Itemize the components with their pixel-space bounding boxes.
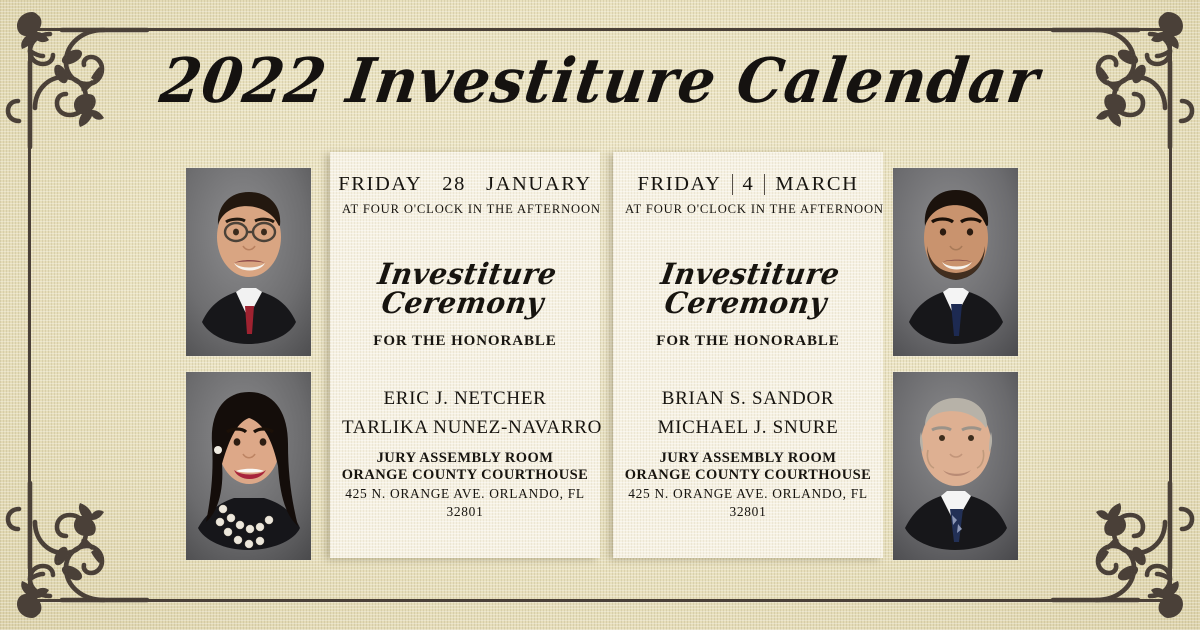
card-day: 4 (743, 174, 755, 196)
list-item: BRIAN S. SANDOR (625, 384, 871, 413)
card-ceremony-title: Investiture Ceremony (620, 259, 875, 318)
corner-ornament-bottom-right (1046, 476, 1196, 626)
corner-ornament-bottom-left (4, 476, 154, 626)
list-item: MICHAEL J. SNURE (625, 413, 871, 442)
card-date-line: FRIDAY 4 MARCH (625, 174, 871, 196)
invitation-card-march[interactable]: FRIDAY 4 MARCH AT FOUR O'CLOCK IN THE AF… (613, 152, 883, 558)
card-weekday: FRIDAY (338, 174, 422, 196)
venue-room: JURY ASSEMBLY ROOM (613, 450, 883, 467)
card-honorific: FOR THE HONORABLE (625, 333, 871, 350)
date-separator-icon (764, 174, 765, 195)
card-month: JANUARY (486, 174, 592, 196)
card-time: AT FOUR O'CLOCK IN THE AFTERNOON (625, 202, 871, 217)
portrait-photo-top-right (893, 168, 1018, 356)
page-title: 2022 Investiture Calendar (0, 50, 1200, 111)
frame-border-top (28, 28, 1172, 31)
invitation-card-january[interactable]: FRIDAY 28 JANUARY AT FOUR O'CLOCK IN THE… (330, 152, 600, 558)
list-item: TARLIKA NUNEZ-NAVARRO (342, 413, 588, 442)
venue-building: ORANGE COUNTY COURTHOUSE (330, 467, 600, 484)
venue-building: ORANGE COUNTY COURTHOUSE (613, 467, 883, 484)
card-month: MARCH (775, 174, 858, 196)
investiture-calendar-poster: 2022 Investiture Calendar (0, 0, 1200, 630)
venue-address: 425 N. ORANGE AVE. ORLANDO, FL 32801 (330, 485, 600, 520)
portrait-photo-top-left (186, 168, 311, 356)
list-item: ERIC J. NETCHER (342, 384, 588, 413)
portrait-photo-bottom-left (186, 372, 311, 560)
portrait-photo-bottom-right (893, 372, 1018, 560)
venue-address: 425 N. ORANGE AVE. ORLANDO, FL 32801 (613, 485, 883, 520)
card-honoree-list: ERIC J. NETCHER TARLIKA NUNEZ-NAVARRO (342, 384, 588, 443)
card-weekday: FRIDAY (637, 174, 721, 196)
frame-border-bottom (28, 599, 1172, 602)
card-honorific: FOR THE HONORABLE (342, 333, 588, 350)
card-venue: JURY ASSEMBLY ROOM ORANGE COUNTY COURTHO… (613, 450, 883, 520)
card-date-line: FRIDAY 28 JANUARY (342, 174, 588, 196)
card-time: AT FOUR O'CLOCK IN THE AFTERNOON (342, 202, 588, 217)
venue-room: JURY ASSEMBLY ROOM (330, 450, 600, 467)
card-day: 28 (442, 174, 466, 196)
date-separator-icon (732, 174, 733, 195)
card-honoree-list: BRIAN S. SANDOR MICHAEL J. SNURE (625, 384, 871, 443)
card-ceremony-title: Investiture Ceremony (337, 259, 592, 318)
card-venue: JURY ASSEMBLY ROOM ORANGE COUNTY COURTHO… (330, 450, 600, 520)
